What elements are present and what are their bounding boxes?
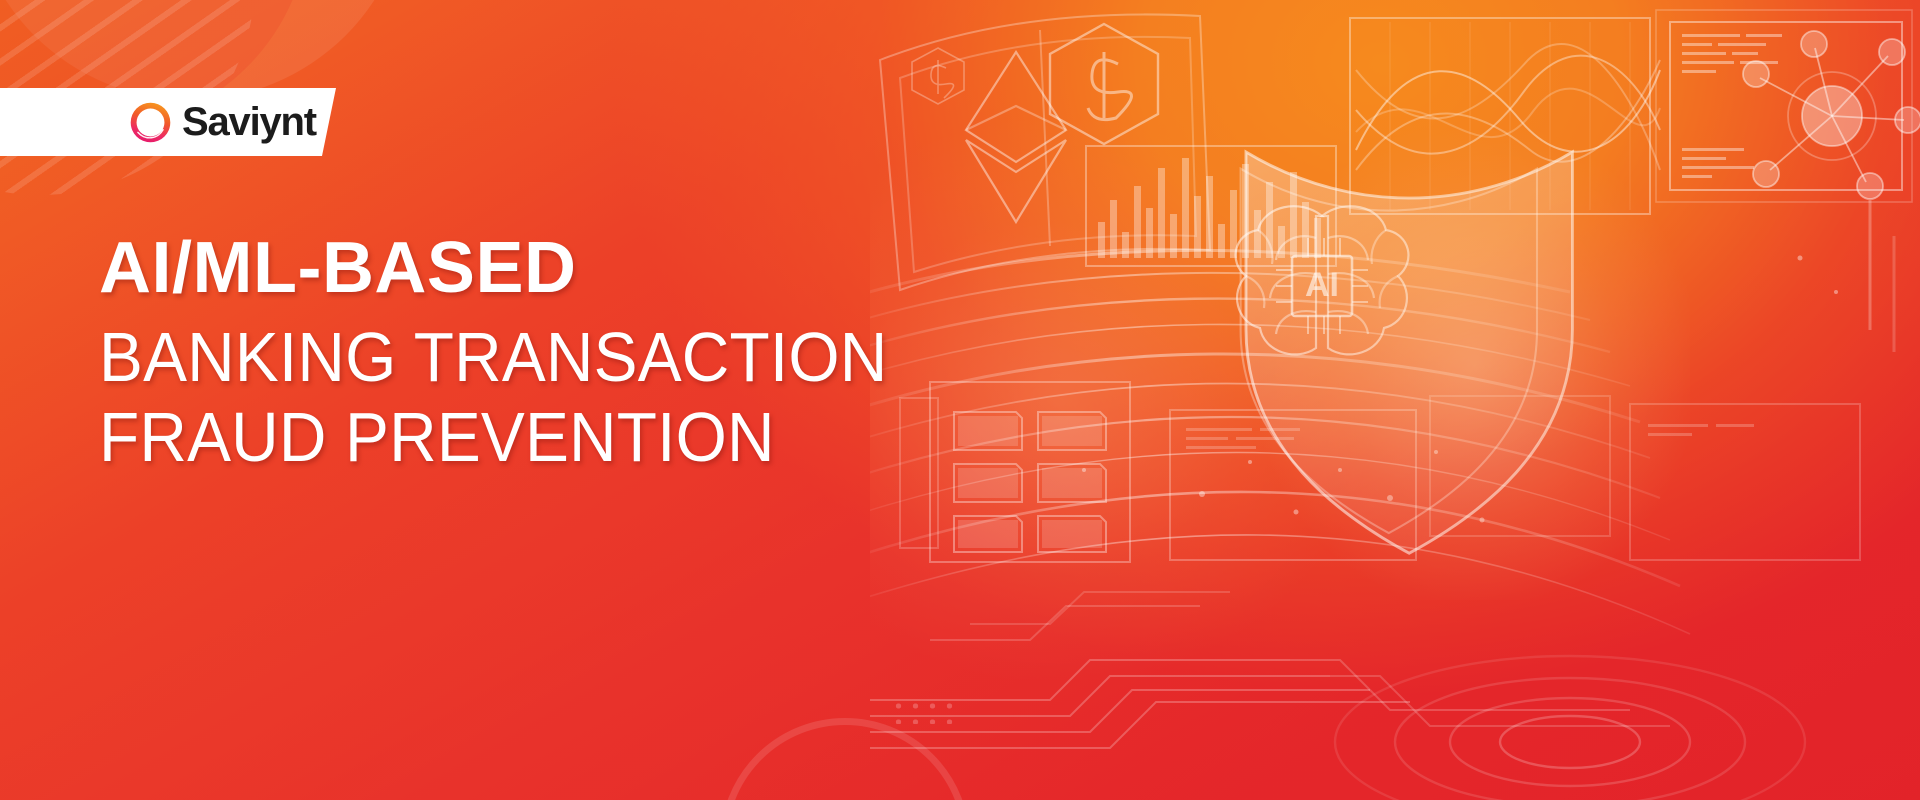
hero-banner: AI (0, 0, 1920, 800)
ai-brain-chip: AI (1236, 206, 1409, 354)
saviynt-ring-logo-icon (128, 100, 173, 145)
dot-grid-bottom (890, 698, 960, 724)
dollar-hexagon-icon (1050, 24, 1158, 144)
waveform-panel (1350, 18, 1660, 214)
arc-band-top-left (0, 0, 410, 100)
signal-ripples (1335, 656, 1805, 800)
data-text-panel (1656, 10, 1912, 202)
ethereum-diamond-icon (966, 52, 1066, 222)
brand-name: Saviynt (182, 102, 316, 142)
shield-ai-label: AI (1305, 266, 1339, 304)
outline-ring-bottom (720, 718, 970, 800)
hero-headline: AI/ML-BASED BANKING TRANSACTION FRAUD PR… (99, 232, 938, 474)
headline-line-1: AI/ML-BASED (99, 232, 938, 304)
tech-artwork: AI (870, 0, 1920, 800)
lower-right-panels (1170, 396, 1860, 560)
circuit-board-traces (870, 592, 1670, 748)
particle-dots (1082, 256, 1838, 523)
light-streaks (870, 250, 1690, 634)
artwork-vector: AI (870, 0, 1920, 800)
headline-line-2: BANKING TRANSACTION (99, 320, 887, 394)
bar-chart-panel (1086, 146, 1336, 266)
vertical-light-bars (1870, 200, 1894, 352)
light-streaks-glow (870, 120, 1370, 680)
shield-glow (1260, 130, 1690, 600)
network-node-graph (1743, 31, 1920, 199)
headline-line-3: FRAUD PREVENTION (99, 400, 887, 474)
security-shield (1241, 152, 1573, 553)
brand-logo-plate: Saviynt (0, 88, 336, 156)
small-coin-hexagon-icon (912, 48, 964, 104)
